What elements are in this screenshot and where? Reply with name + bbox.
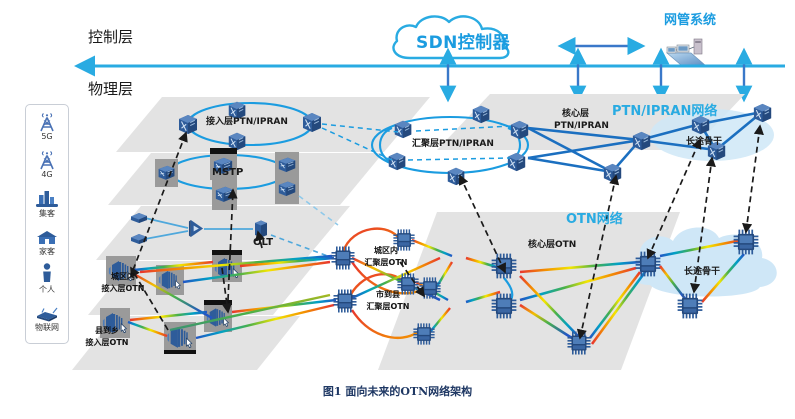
band-mstp [108, 153, 383, 205]
olt-node [255, 221, 267, 238]
otn-access-urban-label-2: 接入层OTN [93, 284, 153, 293]
nms-label: 网管系统 [664, 14, 716, 27]
physical-layer-label: 物理层 [88, 82, 133, 97]
ptn-agg-node [511, 121, 528, 139]
ptn-core-node [604, 164, 621, 182]
legend-label: 4G [26, 170, 68, 179]
ptn-backbone-label: 长途骨干 [686, 138, 722, 147]
ptn-core-label-line2: PTN/IPRAN [554, 122, 609, 131]
olt-label: OLT [253, 238, 273, 248]
legend-item-personal[interactable]: 个人 [26, 262, 68, 300]
otn-backbone-node [678, 294, 703, 319]
ptn-agg-node [508, 153, 525, 171]
figure-caption: 图1 面向未来的OTN网络架构 [0, 386, 795, 397]
person-icon [40, 262, 54, 284]
otn-agg-city-label-1: 市到县 [358, 290, 418, 299]
home-icon [35, 224, 59, 246]
ptn-backbone-node [754, 104, 771, 122]
sdn-controller-label: SDN控制器 [416, 35, 510, 52]
legend-item-home[interactable]: 家客 [26, 224, 68, 262]
mstp-label: MSTP [212, 168, 243, 178]
otn-access-county-label-1: 县到乡 [78, 326, 136, 335]
nms-icon [667, 39, 705, 65]
ptn-access-node [229, 133, 246, 150]
cell-tower-4g-icon [37, 148, 57, 170]
legend-label: 5G [26, 132, 68, 141]
otn-network-title: OTN网络 [566, 213, 623, 226]
ptn-agg-node [473, 106, 490, 123]
legend-label: 个人 [26, 284, 68, 295]
otn-agg-city-label-2: 汇聚层OTN [352, 302, 424, 311]
legend-item-enterprise[interactable]: 集客 [26, 186, 68, 224]
ptn-agg-node [395, 121, 412, 138]
control-layer-label: 控制层 [88, 30, 133, 45]
otn-core-label: 核心层OTN [528, 241, 576, 250]
network-diagram-svg [0, 0, 795, 419]
legend-item-5g[interactable]: 5G [26, 110, 68, 148]
legend-item-4g[interactable]: 4G [26, 148, 68, 186]
ptn-network-title: PTN/IPRAN网络 [612, 105, 717, 118]
ptn-core-node [633, 132, 650, 150]
otn-access-urban-label-1: 城区内 [93, 272, 153, 281]
ptn-access-node [303, 113, 321, 132]
ptn-agg-node [389, 153, 406, 170]
ptn-agg-node [448, 168, 465, 185]
legend-label: 集客 [26, 208, 68, 219]
legend-item-iot[interactable]: 物联网 [26, 300, 68, 338]
otn-agg-urban-label-2: 汇聚层OTN [350, 258, 422, 267]
legend-label: 家客 [26, 246, 68, 257]
legend-label: 物联网 [26, 322, 68, 333]
ptn-access-node [179, 115, 197, 134]
enterprise-building-icon [35, 186, 59, 208]
otn-agg-urban-label-1: 城区内 [356, 246, 416, 255]
service-type-legend: 5G 4G [25, 104, 69, 344]
otn-backbone-label: 长途骨干 [684, 268, 720, 277]
iot-gateway-icon [34, 300, 60, 322]
otn-access-county-label-2: 接入层OTN [78, 338, 136, 347]
cell-tower-5g-icon [37, 110, 57, 132]
ptn-core-label-line1: 核心层 [562, 110, 589, 119]
figure-canvas: 控制层 物理层 SDN控制器 网管系统 PTN/IPRAN网络 OTN网络 接入… [0, 0, 795, 419]
ptn-aggregation-ring-label: 汇聚层PTN/IPRAN [412, 140, 494, 149]
ptn-access-ring-label: 接入层PTN/IPRAN [206, 118, 288, 127]
